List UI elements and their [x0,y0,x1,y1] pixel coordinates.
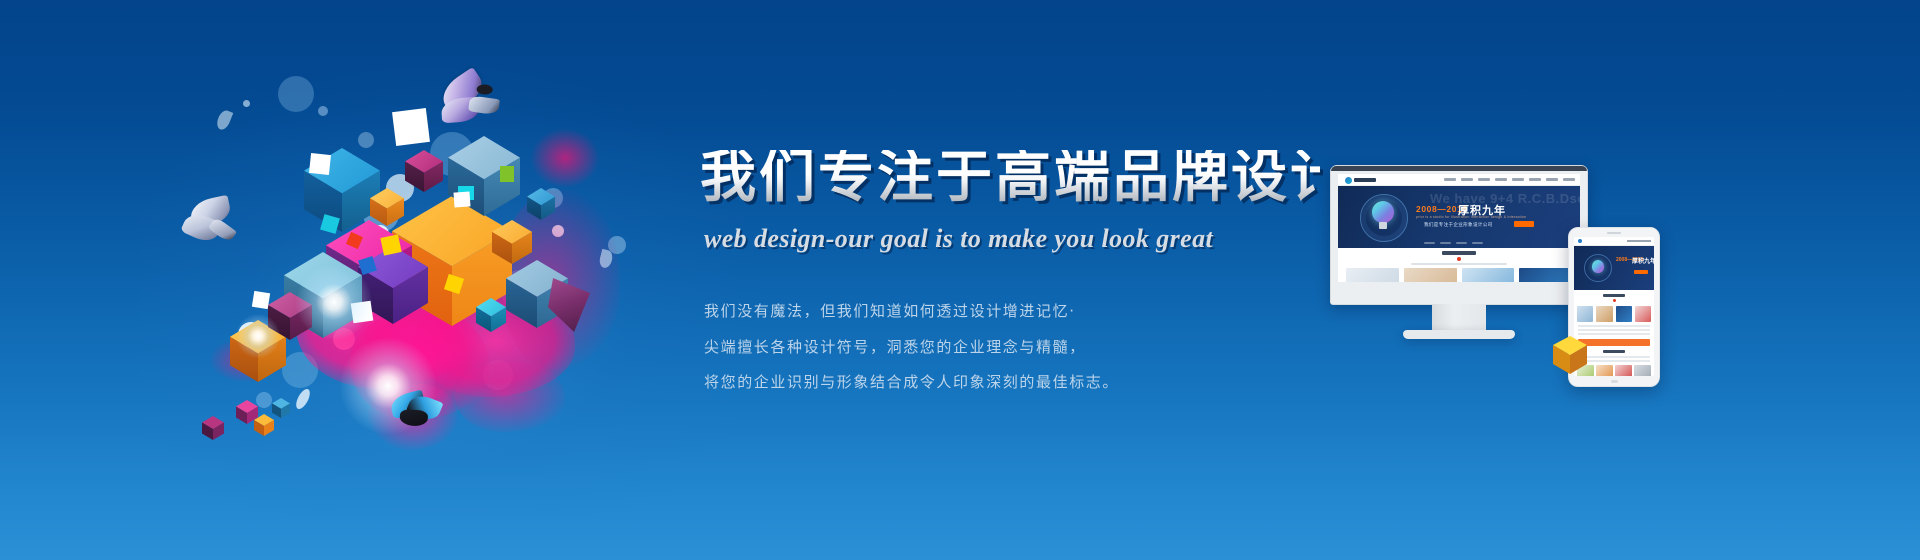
website-preview: We have 9+4 R.C.B.Dsed a higher 2008—201… [1338,174,1580,284]
lightbulb-base [1379,222,1387,229]
phone-lightbulb-illustration [1584,254,1612,282]
site-nav-menu [1444,178,1575,181]
phone-section2-title [1603,350,1625,353]
phone-navbar [1574,237,1654,246]
page-title: 我们专注于高端品牌设计 [700,150,1320,206]
hero-description: 我们是专注于企业形象设计公司 [1424,222,1493,228]
hero-subline: prior is a studio for illustration inter… [1416,215,1526,219]
phone-service-card-row [1577,306,1651,322]
copy-block: 我们专注于高端品牌设计 web design-our goal is to ma… [700,150,1320,407]
phone-case-card[interactable] [1634,365,1651,376]
nav-item [1546,178,1558,181]
light-flare [236,314,280,358]
slider-dot[interactable] [1456,242,1467,244]
site-navbar [1338,174,1580,186]
phone-service-card[interactable] [1596,306,1612,322]
paragraph-line-2: 尖端擅长各种设计符号，洞悉您的企业理念与精髓， [704,336,1320,359]
site-logo-text [1354,178,1376,182]
phone-hero-title: 厚积九年 [1632,256,1654,265]
hero-cta-button[interactable] [1514,221,1534,227]
phone-case-card[interactable] [1615,365,1632,376]
nav-item [1444,178,1456,181]
lightbulb-glass [1372,201,1394,223]
phone-speaker [1607,232,1621,234]
monitor-top-bar [1331,166,1587,171]
phone-case-card[interactable] [1596,365,1613,376]
slider-dot[interactable] [1472,242,1483,244]
phone-lightbulb-glass [1592,260,1604,273]
hero-banner: 我们专注于高端品牌设计 web design-our goal is to ma… [0,0,1920,560]
nav-item [1461,178,1473,181]
phone-text-block [1578,325,1650,335]
phone-text-block-2 [1578,356,1650,362]
gold-cube-icon [1552,335,1588,375]
phone-hero-banner: 2008—2016 厚积九年 [1574,246,1654,290]
phone-logo-icon [1578,239,1582,243]
phone-orange-banner [1578,339,1650,346]
paragraph-line-3: 将您的企业识别与形象结合成令人印象深刻的最佳标志。 [704,371,1320,394]
abstract-artwork [200,70,660,450]
light-flare [296,264,372,340]
section-title-bar [1442,251,1476,255]
butterfly-bottom [384,390,447,440]
nav-item [1512,178,1524,181]
site-service-section [1338,248,1580,284]
phone-service-card[interactable] [1635,306,1651,322]
section-accent-dot [1457,257,1461,261]
nav-item [1495,178,1507,181]
slider-dot[interactable] [1424,242,1435,244]
section-description-bar [1411,263,1507,265]
phone-home-button[interactable] [1611,380,1618,383]
butterfly-left [180,195,254,258]
phone-service-card[interactable] [1577,306,1593,322]
nav-item [1529,178,1541,181]
nav-item [1563,178,1575,181]
phone-section-dot [1613,299,1616,302]
phone-hero-cta-button[interactable] [1634,270,1648,274]
paragraph-line-1: 我们没有魔法，但我们知道如何透过设计增进记忆· [704,300,1320,323]
site-logo-icon [1345,177,1352,184]
monitor-chin [1331,282,1587,304]
subtitle: web design-our goal is to make you look … [704,224,1320,254]
hero-slider-dots[interactable] [1424,242,1483,244]
monitor-stand-neck [1432,304,1486,332]
floating-gold-cube [1552,335,1588,375]
slider-dot[interactable] [1440,242,1451,244]
monitor-stand-base [1403,330,1515,339]
lightbulb-illustration [1360,194,1406,240]
desktop-monitor-mockup: We have 9+4 R.C.B.Dsed a higher 2008—201… [1330,165,1588,340]
monitor-screen: We have 9+4 R.C.B.Dsed a higher 2008—201… [1338,174,1580,284]
nav-item [1478,178,1490,181]
device-mockups: We have 9+4 R.C.B.Dsed a higher 2008—201… [1330,165,1660,395]
phone-nav-menu [1627,240,1651,242]
description-paragraph: 我们没有魔法，但我们知道如何透过设计增进记忆· 尖端擅长各种设计符号，洞悉您的企… [704,300,1320,394]
site-hero-banner: We have 9+4 R.C.B.Dsed a higher 2008—201… [1338,186,1580,248]
monitor-bezel: We have 9+4 R.C.B.Dsed a higher 2008—201… [1330,165,1588,305]
phone-section-title [1603,294,1625,297]
phone-service-card[interactable] [1616,306,1632,322]
phone-case-card-row [1577,365,1651,376]
